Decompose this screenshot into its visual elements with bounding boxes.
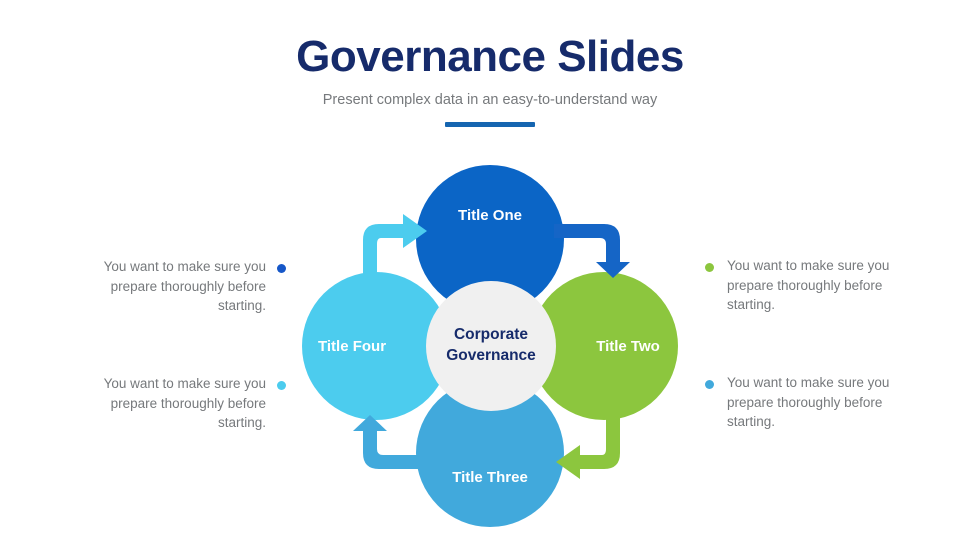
callout-right-2-text: You want to make sure you prepare thorou… bbox=[727, 375, 889, 429]
page-title: Governance Slides bbox=[0, 34, 980, 80]
slide-header: Governance Slides Present complex data i… bbox=[0, 34, 980, 127]
center-label-line2: Governance bbox=[446, 346, 536, 367]
center-label-line1: Corporate bbox=[454, 325, 528, 346]
bullet-dot-icon bbox=[277, 264, 286, 273]
accent-divider bbox=[445, 122, 535, 127]
petal-label-four: Title Four bbox=[318, 338, 386, 355]
callout-left-1-text: You want to make sure you prepare thorou… bbox=[104, 259, 266, 313]
callout-left-1: You want to make sure you prepare thorou… bbox=[66, 257, 266, 316]
petal-label-two: Title Two bbox=[596, 338, 660, 355]
slide-canvas: Governance Slides Present complex data i… bbox=[0, 0, 980, 551]
bullet-dot-icon bbox=[705, 263, 714, 272]
arrow-bottom-left-icon bbox=[351, 415, 429, 479]
arrow-bottom-right-icon bbox=[554, 415, 632, 479]
bullet-dot-icon bbox=[705, 380, 714, 389]
arrow-top-right-icon bbox=[554, 214, 632, 278]
arrow-top-left-icon bbox=[351, 214, 429, 278]
governance-diagram: Title One Title Two Title Three Title Fo… bbox=[302, 165, 678, 527]
petal-label-one: Title One bbox=[458, 207, 522, 224]
petal-label-three: Title Three bbox=[452, 469, 528, 486]
callout-right-1-text: You want to make sure you prepare thorou… bbox=[727, 258, 889, 312]
center-hub: Corporate Governance bbox=[426, 281, 556, 411]
callout-left-2: You want to make sure you prepare thorou… bbox=[66, 374, 266, 433]
bullet-dot-icon bbox=[277, 381, 286, 390]
callout-right-2: You want to make sure you prepare thorou… bbox=[727, 373, 927, 432]
callout-right-1: You want to make sure you prepare thorou… bbox=[727, 256, 927, 315]
callout-left-2-text: You want to make sure you prepare thorou… bbox=[104, 376, 266, 430]
page-subtitle: Present complex data in an easy-to-under… bbox=[0, 92, 980, 108]
